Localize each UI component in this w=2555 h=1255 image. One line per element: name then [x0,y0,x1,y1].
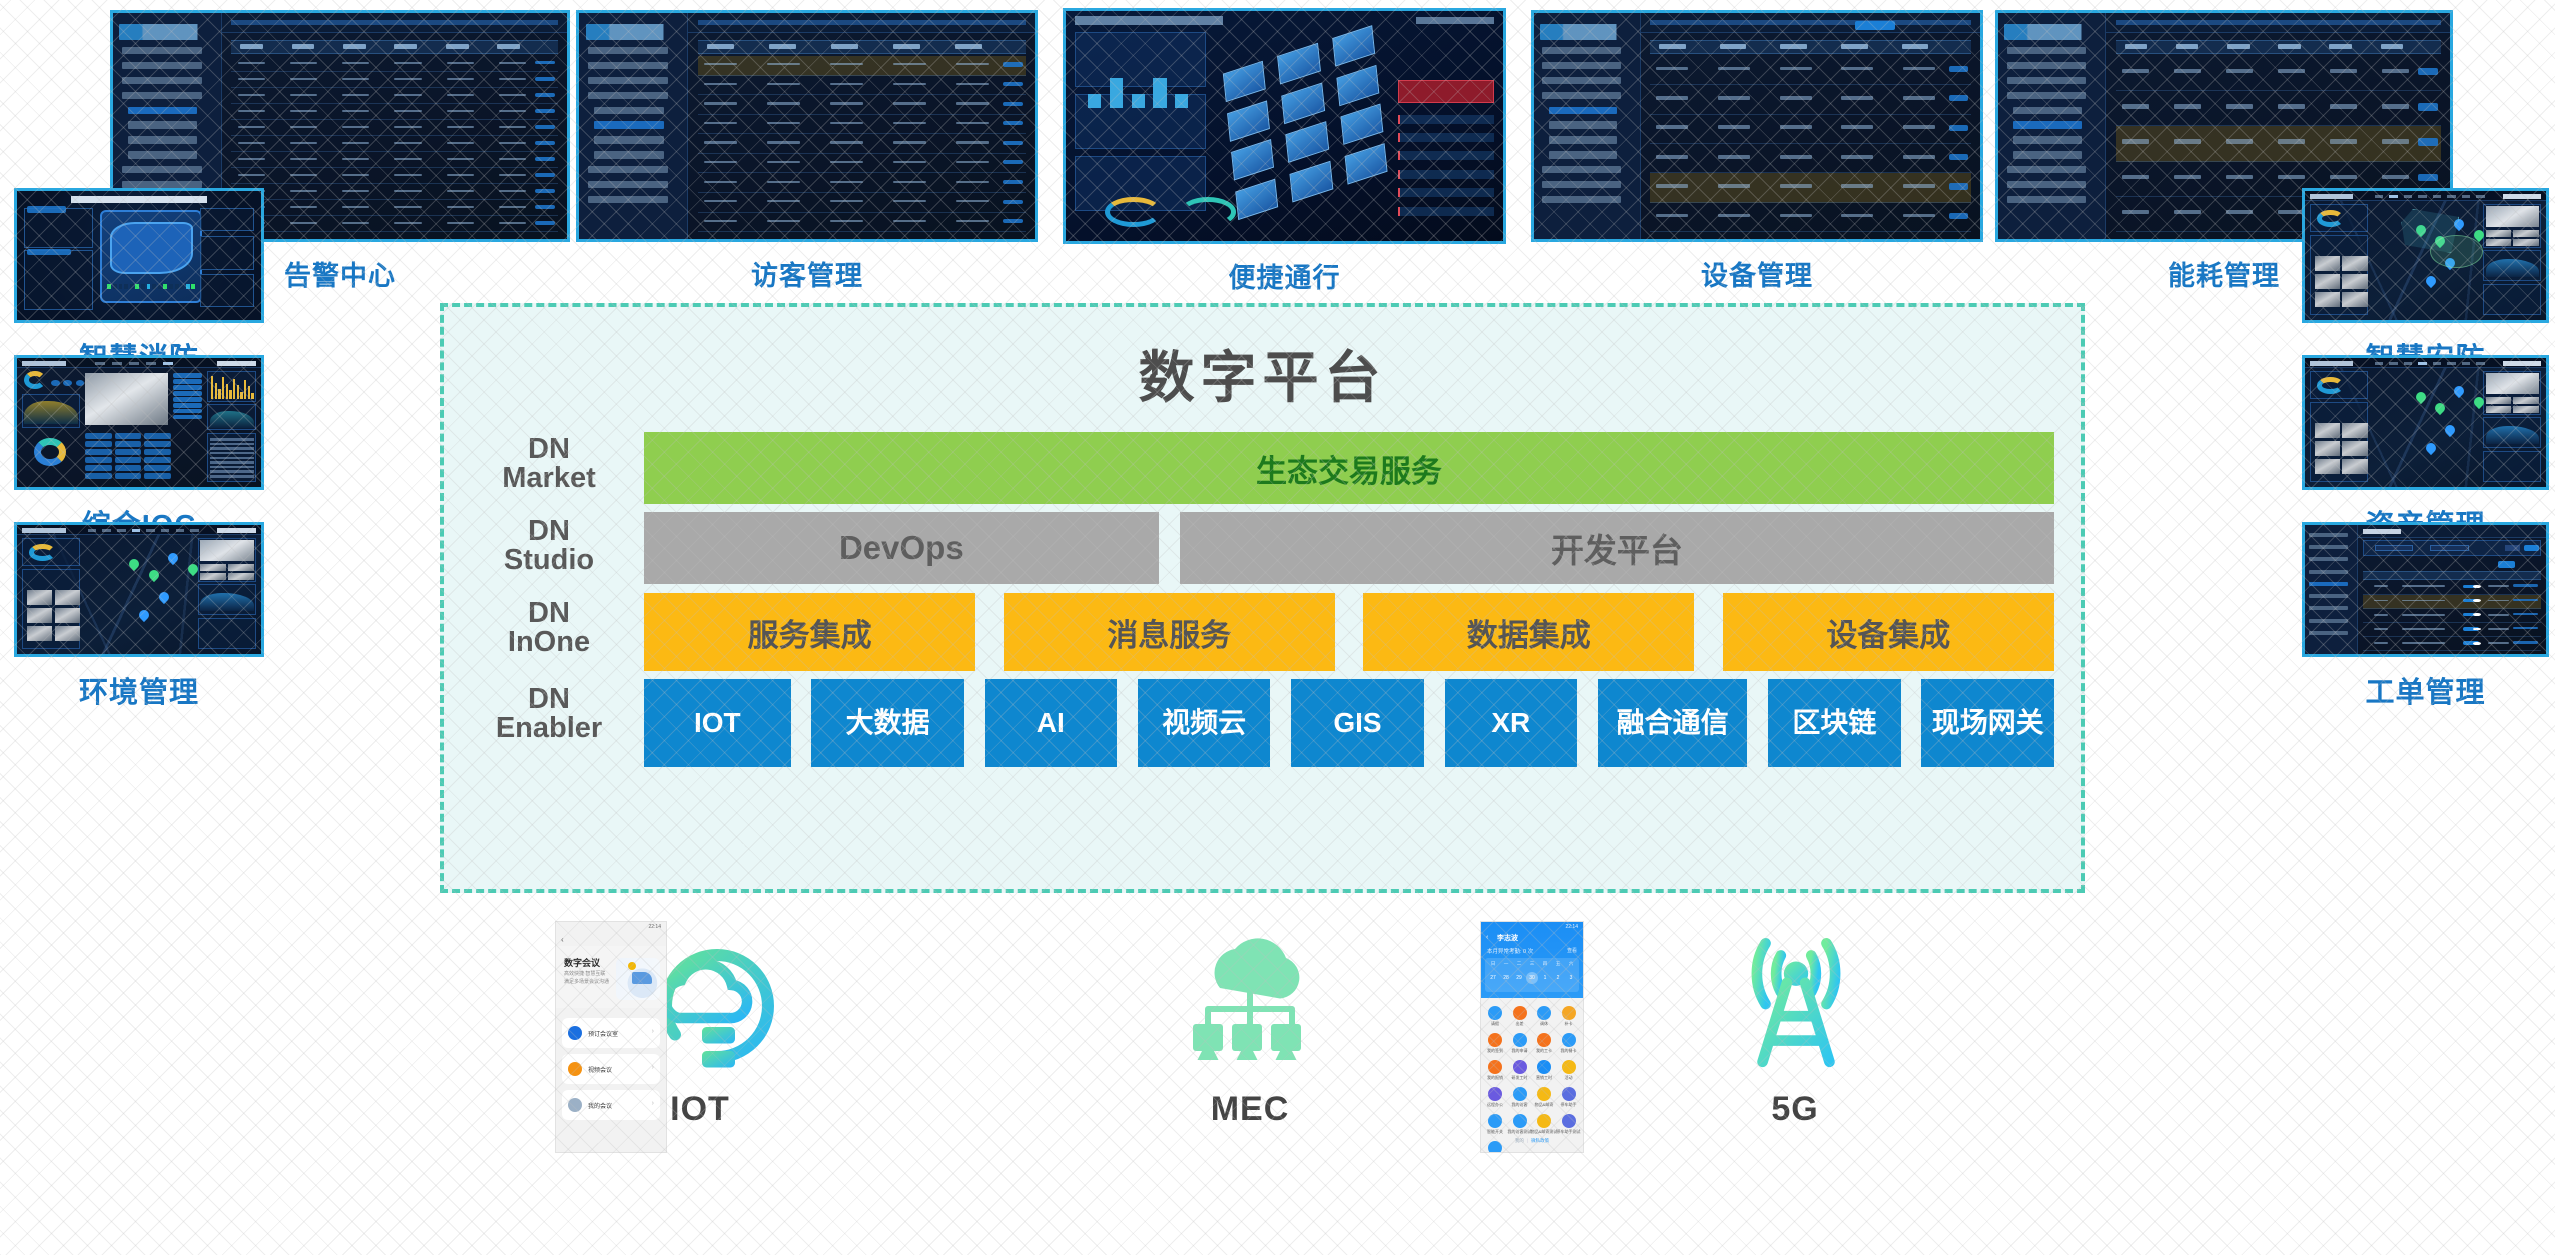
camera-thumb[interactable] [2315,274,2340,289]
header-tab[interactable] [117,529,126,532]
sidebar-item[interactable] [2007,196,2087,203]
dashboard-sidebar[interactable] [1998,13,2106,239]
header-tab[interactable] [2375,362,2383,365]
table-row[interactable] [1650,56,1971,85]
phone-mockup-apps[interactable]: 22:14‹李志波本月异常考勤: 0 次查看日一二三四五六27282930123… [1481,922,1583,1152]
table-cell [2330,175,2357,179]
camera-thumb[interactable] [2342,441,2367,456]
column-header [2227,44,2250,49]
phone-app-item[interactable]: 请假 [1484,1006,1506,1032]
table-row[interactable] [698,95,1026,115]
table-row[interactable] [231,136,558,152]
device-tile[interactable] [115,449,142,455]
tile-dn-inone-3[interactable]: 设备集成 [1723,593,2054,671]
sidebar-item[interactable] [2013,121,2082,128]
table-row[interactable] [231,184,558,200]
sidebar-item[interactable] [2309,545,2347,549]
phone-app-item[interactable]: 物品&邮寄测试 [1533,1114,1555,1140]
person-thumb [228,564,254,572]
row-action-link[interactable] [2418,138,2438,146]
row-actions[interactable] [2513,584,2538,586]
phone-app-item[interactable]: 我的餐卡 [1558,1033,1580,1059]
calendar-date-3[interactable]: 30 [1526,972,1538,984]
header-tab[interactable] [102,529,111,532]
camera-thumb[interactable] [2342,292,2367,307]
tile-dn-enabler-2[interactable]: AI [985,679,1118,767]
dashboard-sidebar[interactable] [2305,525,2358,654]
tile-dn-inone-2[interactable]: 数据集成 [1363,593,1694,671]
sidebar-item[interactable] [128,121,197,128]
table-cell [447,78,474,80]
table-row[interactable] [1650,203,1971,232]
phone-menu-icon-0 [568,1026,582,1040]
camera-thumb[interactable] [2315,459,2340,474]
header-tab[interactable] [2447,362,2455,365]
sidebar-item[interactable] [588,92,668,99]
phone-app-item[interactable]: 出差 [1509,1006,1531,1032]
alert-row [1398,133,1494,142]
phone-app-icon [1562,1087,1576,1101]
row-action-link[interactable] [1003,219,1023,223]
sidebar-item[interactable] [2309,631,2347,635]
table-cell [342,62,369,64]
sidebar-item[interactable] [2007,92,2087,99]
person-thumb [2513,406,2538,414]
phone-app-item[interactable]: 研发工时 [1509,1060,1531,1086]
row-action-link[interactable] [2418,174,2438,182]
phone-app-icon [1513,1006,1527,1020]
tile-dn-enabler-5[interactable]: XR [1445,679,1578,767]
table-row[interactable] [231,56,558,72]
sidebar-item[interactable] [1542,92,1620,99]
table-row[interactable] [1650,173,1971,202]
table-row[interactable] [2363,637,2541,651]
park-status-block [130,284,134,289]
phone-mockup-meeting[interactable]: 22:14‹数字会议高效快捷 智慧互联满足多场景会议沟通预订会议室›视频会议›我… [556,922,666,1152]
phone-app-item[interactable]: 停车助手测试 [1558,1114,1580,1140]
tile-dn-enabler-4[interactable]: GIS [1291,679,1424,767]
table-row[interactable] [698,154,1026,174]
sidebar-item[interactable] [2007,181,2087,188]
park-status-block [141,284,145,289]
status-select[interactable] [2430,545,2469,551]
row-action-link[interactable] [535,205,555,208]
sidebar-item[interactable] [2007,166,2087,173]
camera-thumb[interactable] [2315,292,2340,307]
row-action-link[interactable] [2418,68,2438,76]
row-action-link[interactable] [535,157,555,160]
sidebar-item[interactable] [588,47,668,54]
tile-dn-studio-1[interactable]: 开发平台 [1180,512,2054,584]
illustration-plane [632,972,652,984]
phone-app-item[interactable]: 我的访客测试 [1509,1114,1531,1140]
phone-back-icon[interactable]: ‹ [1486,934,1488,941]
device-tile[interactable] [85,465,112,471]
header-tab[interactable] [2476,362,2484,365]
screenshot-smart-security[interactable] [2302,188,2549,323]
phone-app-item[interactable]: 我的工卡 [1533,1033,1555,1059]
table-row[interactable] [2363,623,2541,637]
phone-app-label: 补卡 [1555,1022,1583,1026]
sidebar-item[interactable] [122,62,202,69]
device-status-chip[interactable] [173,379,202,383]
table-row[interactable] [231,216,558,232]
camera-thumb[interactable] [2342,459,2367,474]
column-header [1902,44,1929,49]
device-tile[interactable] [115,473,142,479]
row-action-link[interactable] [1003,62,1023,66]
table-row[interactable] [2116,56,2441,91]
person-thumb [228,573,254,581]
header-tab[interactable] [129,362,139,365]
table-cell [499,206,526,208]
search-button[interactable] [2524,545,2538,551]
bar-column [248,386,250,399]
camera-thumb[interactable] [55,590,81,605]
camera-thumb[interactable] [2315,256,2340,271]
row-action-link[interactable] [1003,121,1023,125]
tile-dn-enabler-6[interactable]: 融合通信 [1598,679,1747,767]
camera-thumb[interactable] [2315,441,2340,456]
sidebar-item[interactable] [588,62,668,69]
tile-dn-inone-1[interactable]: 消息服务 [1004,593,1335,671]
phone-app-item[interactable]: 活动 [1558,1060,1580,1086]
row-action-link[interactable] [1949,154,1968,160]
sidebar-item[interactable] [1542,77,1620,84]
table-row[interactable] [231,88,558,104]
row-action-link[interactable] [535,221,555,224]
tile-dn-enabler-0[interactable]: IOT [644,679,791,767]
row-action-link[interactable] [535,61,555,64]
row-action-link[interactable] [1003,141,1023,145]
calendar-date-0[interactable]: 27 [1487,972,1499,984]
table-cell [1656,67,1688,71]
camera-thumb[interactable] [27,590,53,605]
sidebar-item[interactable] [1542,62,1620,69]
device-status-chip[interactable] [173,373,202,377]
row-action-link[interactable] [535,125,555,128]
row-actions[interactable] [2513,627,2538,629]
phone-app-item[interactable]: 调休 [1533,1006,1555,1032]
header-tab[interactable] [2462,195,2470,198]
device-tile[interactable] [85,433,112,439]
tile-dn-studio-0[interactable]: DevOps [644,512,1159,584]
row-action-link[interactable] [1949,213,1968,219]
table-row[interactable] [2363,580,2541,594]
table-row[interactable] [231,152,558,168]
sidebar-item[interactable] [594,136,663,143]
camera-thumb[interactable] [27,626,53,641]
camera-thumb[interactable] [55,626,81,641]
sidebar-item[interactable] [2309,606,2347,610]
table-cell [342,174,369,176]
factory-camera-feed[interactable] [85,373,168,425]
table-cell [2382,104,2409,108]
device-tile[interactable] [115,441,142,447]
row-action-link[interactable] [535,173,555,176]
row-action-link[interactable] [1949,125,1968,131]
phone-app-item[interactable]: 智能开关 [1484,1114,1506,1140]
sidebar-item[interactable] [1549,136,1617,143]
sidebar-item[interactable] [588,181,668,188]
header-tab[interactable] [2389,362,2397,365]
device-status-chip[interactable] [173,409,202,413]
sidebar-item[interactable] [1542,196,1620,203]
table-row[interactable] [2363,595,2541,609]
tile-dn-enabler-3[interactable]: 视频云 [1138,679,1271,767]
reset-button[interactable] [2505,545,2519,551]
table-row[interactable] [231,120,558,136]
row-action-link[interactable] [1003,200,1023,204]
header-tab[interactable] [161,529,170,532]
sidebar-item[interactable] [128,107,197,114]
table-row[interactable] [1650,115,1971,144]
table-row[interactable] [698,76,1026,96]
header-tab[interactable] [95,362,105,365]
device-tile[interactable] [115,465,142,471]
column-header [707,44,734,49]
tile-dn-inone-0[interactable]: 服务集成 [644,593,975,671]
row-action-link[interactable] [1003,180,1023,184]
calendar-date-4[interactable]: 1 [1539,972,1551,984]
table-row[interactable] [2363,609,2541,623]
sidebar-item[interactable] [594,151,663,158]
row-action-link[interactable] [2418,103,2438,111]
device-tile[interactable] [144,441,171,447]
header-tab[interactable] [2433,195,2441,198]
device-status-chip[interactable] [173,403,202,407]
row-action-link[interactable] [535,141,555,144]
phone-app-item[interactable]: 我的签到 [1484,1033,1506,1059]
sidebar-item[interactable] [1542,47,1620,54]
sidebar-item[interactable] [2013,151,2082,158]
camera-thumb[interactable] [2342,256,2367,271]
sidebar-item[interactable] [588,166,668,173]
park-status-block [186,284,190,289]
phone-menu-card-1[interactable]: 视频会议› [562,1054,660,1084]
table-row[interactable] [2116,91,2441,126]
header-tab[interactable] [2433,362,2441,365]
device-tile[interactable] [144,465,171,471]
calendar-date-2[interactable]: 29 [1513,972,1525,984]
header-tab[interactable] [146,529,155,532]
table-row[interactable] [231,168,558,184]
sidebar-item[interactable] [122,77,202,84]
sidebar-item[interactable] [1542,166,1620,173]
header-tab[interactable] [2404,362,2412,365]
calendar-date-5[interactable]: 2 [1552,972,1564,984]
sidebar-item[interactable] [2309,619,2347,623]
add-button[interactable] [2498,561,2515,567]
camera-thumb[interactable] [2342,423,2367,438]
sidebar-item[interactable] [128,151,197,158]
row-action-link[interactable] [535,77,555,80]
phone-app-item[interactable]: 物品&邮寄 [1533,1087,1555,1113]
phone-app-item[interactable]: 我的报销 [1484,1060,1506,1086]
sidebar-item[interactable] [1549,151,1617,158]
phone-menu-card-0[interactable]: 预订会议室› [562,1018,660,1048]
header-tab[interactable] [88,529,97,532]
row-action-link[interactable] [1003,102,1023,106]
header-tab[interactable] [190,529,199,532]
table-cell [394,126,421,128]
row-action-link[interactable] [1003,160,1023,164]
device-tile[interactable] [144,449,171,455]
table-row[interactable] [1650,144,1971,173]
table-row[interactable] [2116,126,2441,161]
screenshot-environment-mgmt[interactable] [14,522,264,657]
table-cell [342,78,369,80]
camera-thumb[interactable] [2342,274,2367,289]
sidebar-item[interactable] [2007,77,2087,84]
sidebar-item[interactable] [122,92,202,99]
screenshot-visitor-mgmt[interactable] [576,10,1038,242]
dashboard-sidebar[interactable] [579,13,688,239]
table-cell [893,200,926,202]
calendar-weekday-1: 一 [1500,961,1512,967]
screenshot-integrated-ioc[interactable] [14,355,264,490]
phone-app-item[interactable]: 我的访客 [1509,1087,1531,1113]
row-action-link[interactable] [535,109,555,112]
table-cell [1841,155,1873,159]
row-action-link[interactable] [535,189,555,192]
device-status-chip[interactable] [173,391,202,395]
camera-thumb[interactable] [27,608,53,623]
header-tab[interactable] [163,362,173,365]
header-tab[interactable] [2418,195,2426,198]
header-tab[interactable] [2389,195,2397,198]
phone-back-icon[interactable]: ‹ [561,935,564,944]
phone-app-item[interactable]: 停车助手 [1558,1087,1580,1113]
sidebar-item[interactable] [1549,107,1617,114]
phone-app-item[interactable]: 我的申请 [1509,1033,1531,1059]
sidebar-item[interactable] [128,136,197,143]
sidebar-item[interactable] [2309,570,2347,574]
table-row[interactable] [698,56,1026,76]
sidebar-item[interactable] [2007,62,2087,69]
screenshot-easy-access[interactable] [1063,8,1506,244]
sidebar-item[interactable] [2007,47,2087,54]
sidebar-item[interactable] [1549,121,1617,128]
sidebar-item[interactable] [594,107,663,114]
phone-menu-card-2[interactable]: 我的会议› [562,1090,660,1120]
sidebar-item[interactable] [1542,181,1620,188]
table-row[interactable] [698,193,1026,213]
sidebar-item[interactable] [588,77,668,84]
device-tile[interactable] [144,457,171,463]
table-row[interactable] [231,104,558,120]
device-status-chip[interactable] [173,397,202,401]
row-actions[interactable] [2513,613,2538,615]
screenshot-asset-mgmt[interactable] [2302,355,2549,490]
phone-footer-right[interactable]: 微私政策 [1531,1138,1549,1143]
tile-dn-enabler-8[interactable]: 现场网关 [1921,679,2054,767]
sidebar-item[interactable] [2309,582,2347,586]
header-tab[interactable] [176,529,185,532]
alarm-list-row [210,447,254,450]
header-tab[interactable] [2462,362,2470,365]
header-tab[interactable] [2404,195,2412,198]
dashboard-sidebar[interactable] [1534,13,1641,239]
sidebar-item[interactable] [2309,533,2347,537]
row-action-link[interactable] [1949,183,1968,189]
calendar-date-1[interactable]: 28 [1500,972,1512,984]
sidebar-item[interactable] [2309,594,2347,598]
header-tab[interactable] [112,362,122,365]
row-actions[interactable] [2513,599,2538,601]
device-tile[interactable] [85,457,112,463]
table-row[interactable] [231,200,558,216]
phone-app-item[interactable]: 远程办公 [1484,1087,1506,1113]
layer-label-line2: Enabler [454,714,644,743]
sidebar-item[interactable] [2309,557,2347,561]
table-row[interactable] [698,115,1026,135]
camera-thumb[interactable] [55,608,81,623]
sidebar-item[interactable] [122,166,202,173]
header-tab[interactable] [2418,362,2426,365]
sidebar-item[interactable] [2013,107,2082,114]
calendar-date-6[interactable]: 3 [1565,972,1577,984]
device-status-chip[interactable] [173,385,202,389]
device-tile[interactable] [85,449,112,455]
device-tile[interactable] [115,433,142,439]
table-row[interactable] [1650,85,1971,114]
device-tile[interactable] [144,433,171,439]
row-action-link[interactable] [535,93,555,96]
primary-action-button[interactable] [1855,21,1895,30]
tile-dn-enabler-1[interactable]: 大数据 [811,679,963,767]
header-tab[interactable] [2476,195,2484,198]
header-tab[interactable] [2375,195,2383,198]
table-row[interactable] [698,134,1026,154]
header-tab[interactable] [146,362,156,365]
device-tile[interactable] [144,473,171,479]
strategy-name-input[interactable] [2375,545,2414,551]
device-tile[interactable] [85,473,112,479]
app-logo [586,24,673,40]
camera-thumb[interactable] [2315,423,2340,438]
tile-dn-market-0[interactable]: 生态交易服务 [644,432,2054,504]
table-cell [2226,69,2253,73]
header-tab[interactable] [132,529,141,532]
row-action-link[interactable] [1949,66,1968,72]
sidebar-item[interactable] [122,47,202,54]
sidebar-item[interactable] [588,196,668,203]
row-action-link[interactable] [1949,95,1968,101]
screenshot-smart-fire[interactable] [14,188,264,323]
screenshot-work-order[interactable] [2302,522,2549,657]
screenshot-device-mgmt[interactable] [1531,10,1983,242]
table-row[interactable] [231,72,558,88]
device-tile[interactable] [85,441,112,447]
phone-app-item[interactable]: 营销工时 [1533,1060,1555,1086]
row-actions[interactable] [2513,641,2538,643]
phone-app-item[interactable]: 补卡 [1558,1006,1580,1032]
table-cell [767,122,800,124]
device-tile[interactable] [115,457,142,463]
table-cell [342,94,369,96]
tile-dn-enabler-7[interactable]: 区块链 [1768,679,1901,767]
table-row[interactable] [698,213,1026,233]
row-action-link[interactable] [1003,82,1023,86]
device-status-chip[interactable] [173,415,202,419]
sidebar-item[interactable] [594,121,663,128]
table-row[interactable] [698,173,1026,193]
kpi-chip [51,380,60,386]
phone-view-more-link[interactable]: 查看 [1567,947,1577,954]
header-tab[interactable] [2447,195,2455,198]
sidebar-item[interactable] [2013,136,2082,143]
